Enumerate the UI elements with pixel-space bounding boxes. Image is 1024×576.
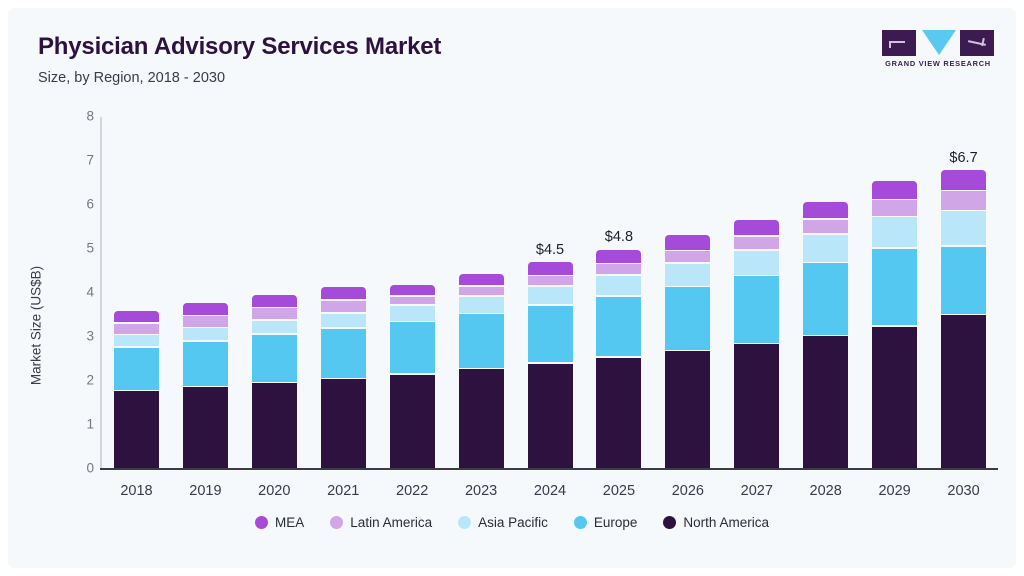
- bar-group-2026[interactable]: [665, 103, 710, 468]
- bar-group-2025[interactable]: $4.8: [596, 103, 641, 468]
- chart-legend: MEALatin AmericaAsia PacificEuropeNorth …: [8, 515, 1016, 530]
- bar-stack: [941, 170, 986, 468]
- bar-segment-mea[interactable]: [321, 287, 366, 299]
- bar-segment-north-america[interactable]: [252, 383, 297, 468]
- legend-item-north-america[interactable]: North America: [663, 515, 769, 530]
- bar-group-2022[interactable]: [390, 103, 435, 468]
- x-axis-tick-2026: 2026: [653, 483, 722, 499]
- bar-segment-europe[interactable]: [528, 306, 573, 362]
- x-axis-line: [100, 468, 998, 470]
- legend-label: Asia Pacific: [478, 515, 548, 530]
- x-axis-tick-2019: 2019: [171, 483, 240, 499]
- bar-segment-mea[interactable]: [528, 262, 573, 274]
- bar-segment-north-america[interactable]: [872, 327, 917, 468]
- legend-label: Europe: [594, 515, 638, 530]
- bar-segment-latin-america[interactable]: [665, 251, 710, 262]
- y-axis-tick-1: 1: [58, 417, 94, 432]
- bar-segment-europe[interactable]: [183, 342, 228, 386]
- bar-stack: [459, 274, 504, 468]
- bar-segment-asia-pacific[interactable]: [941, 211, 986, 245]
- bar-segment-mea[interactable]: [941, 170, 986, 190]
- logo-square-right-icon: [960, 30, 994, 56]
- x-axis-tick-2024: 2024: [516, 483, 585, 499]
- bar-segment-mea[interactable]: [665, 235, 710, 249]
- bar-segment-latin-america[interactable]: [941, 191, 986, 209]
- bar-segment-latin-america[interactable]: [321, 301, 366, 312]
- bar-stack: [665, 235, 710, 468]
- bar-segment-latin-america[interactable]: [803, 220, 848, 234]
- logo-mark: [882, 30, 994, 56]
- bar-segment-mea[interactable]: [803, 202, 848, 219]
- bar-segment-north-america[interactable]: [528, 364, 573, 468]
- bar-stack: [321, 287, 366, 468]
- legend-swatch-icon: [330, 516, 343, 529]
- legend-label: MEA: [275, 515, 304, 530]
- bar-stack: [528, 262, 573, 468]
- x-axis-tick-2020: 2020: [240, 483, 309, 499]
- legend-swatch-icon: [255, 516, 268, 529]
- bar-group-2020[interactable]: [252, 103, 297, 468]
- chart-card: Physician Advisory Services Market Size,…: [8, 8, 1016, 568]
- bar-segment-europe[interactable]: [252, 335, 297, 382]
- bar-segment-latin-america[interactable]: [183, 316, 228, 327]
- chart-header: Physician Advisory Services Market Size,…: [8, 8, 1016, 103]
- bar-group-2029[interactable]: [872, 103, 917, 468]
- bar-segment-north-america[interactable]: [459, 369, 504, 468]
- bar-segment-asia-pacific[interactable]: [252, 321, 297, 334]
- legend-label: North America: [683, 515, 769, 530]
- bar-segment-north-america[interactable]: [803, 336, 848, 468]
- bar-segment-latin-america[interactable]: [528, 276, 573, 285]
- bar-stack: [734, 220, 779, 468]
- bar-value-label-2025: $4.8: [605, 229, 633, 245]
- y-axis-ticks: 012345678: [58, 103, 94, 503]
- bar-segment-europe[interactable]: [390, 322, 435, 373]
- bar-segment-asia-pacific[interactable]: [872, 217, 917, 247]
- logo-square-left-icon: [882, 30, 916, 56]
- bar-value-label-2024: $4.5: [536, 242, 564, 258]
- x-axis-tick-2029: 2029: [860, 483, 929, 499]
- bar-segment-north-america[interactable]: [734, 344, 779, 468]
- bar-segment-north-america[interactable]: [321, 379, 366, 468]
- bar-segment-latin-america[interactable]: [390, 297, 435, 304]
- bar-segment-latin-america[interactable]: [114, 324, 159, 334]
- bar-segment-europe[interactable]: [734, 276, 779, 343]
- bar-segment-europe[interactable]: [321, 329, 366, 378]
- bar-stack: [183, 303, 228, 468]
- bar-segment-europe[interactable]: [596, 297, 641, 356]
- bar-segment-asia-pacific[interactable]: [390, 306, 435, 321]
- bar-stack: [872, 181, 917, 468]
- bar-stack: [803, 202, 848, 468]
- bar-segment-europe[interactable]: [459, 314, 504, 368]
- bar-segment-north-america[interactable]: [183, 387, 228, 468]
- x-axis-tick-2018: 2018: [102, 483, 171, 499]
- bar-segment-europe[interactable]: [114, 348, 159, 390]
- bar-segment-north-america[interactable]: [390, 375, 435, 468]
- bar-series-container: $4.5$4.8$6.7: [102, 103, 998, 468]
- bar-group-2024[interactable]: $4.5: [528, 103, 573, 468]
- bar-group-2028[interactable]: [803, 103, 848, 468]
- y-axis-label: Market Size (US$B): [29, 176, 44, 476]
- y-axis-tick-3: 3: [58, 329, 94, 344]
- bar-segment-asia-pacific[interactable]: [321, 314, 366, 328]
- bar-segment-asia-pacific[interactable]: [459, 297, 504, 313]
- y-axis-tick-5: 5: [58, 241, 94, 256]
- bar-segment-latin-america[interactable]: [252, 308, 297, 319]
- bar-segment-europe[interactable]: [803, 263, 848, 334]
- logo-glyph-stem: [889, 41, 891, 48]
- bar-segment-mea[interactable]: [596, 250, 641, 263]
- bar-segment-mea[interactable]: [183, 303, 228, 314]
- bar-stack: [596, 250, 641, 468]
- bar-segment-mea[interactable]: [459, 274, 504, 285]
- bar-group-2023[interactable]: [459, 103, 504, 468]
- bar-stack: [114, 311, 159, 468]
- x-axis-ticks: 2018201920202021202220232024202520262027…: [102, 475, 998, 505]
- legend-label: Latin America: [350, 515, 432, 530]
- y-axis-tick-8: 8: [58, 109, 94, 124]
- x-axis-tick-2022: 2022: [378, 483, 447, 499]
- bar-segment-europe[interactable]: [872, 249, 917, 326]
- grand-view-research-logo: GRAND VIEW RESEARCH: [882, 30, 994, 72]
- bar-segment-europe[interactable]: [941, 247, 986, 314]
- bar-segment-latin-america[interactable]: [596, 264, 641, 274]
- logo-text: GRAND VIEW RESEARCH: [882, 59, 994, 68]
- bar-segment-mea[interactable]: [872, 181, 917, 199]
- bar-group-2021[interactable]: [321, 103, 366, 468]
- legend-swatch-icon: [458, 516, 471, 529]
- x-axis-tick-2021: 2021: [309, 483, 378, 499]
- bar-segment-mea[interactable]: [252, 295, 297, 307]
- bar-segment-latin-america[interactable]: [734, 237, 779, 249]
- legend-swatch-icon: [574, 516, 587, 529]
- bar-group-2030[interactable]: $6.7: [941, 103, 986, 468]
- y-axis-tick-6: 6: [58, 197, 94, 212]
- page-title: Physician Advisory Services Market: [38, 33, 441, 61]
- chart-subtitle: Size, by Region, 2018 - 2030: [38, 70, 225, 86]
- y-axis-tick-7: 7: [58, 153, 94, 168]
- y-axis-tick-2: 2: [58, 373, 94, 388]
- bar-stack: [252, 295, 297, 468]
- bar-segment-north-america[interactable]: [941, 315, 986, 468]
- bar-segment-asia-pacific[interactable]: [734, 251, 779, 275]
- x-axis-tick-2027: 2027: [722, 483, 791, 499]
- x-axis-tick-2030: 2030: [929, 483, 998, 499]
- bar-segment-latin-america[interactable]: [459, 287, 504, 295]
- bar-group-2018[interactable]: [114, 103, 159, 468]
- bar-segment-north-america[interactable]: [596, 358, 641, 468]
- bar-stack: [390, 285, 435, 468]
- bar-segment-mea[interactable]: [734, 220, 779, 235]
- bar-segment-asia-pacific[interactable]: [803, 235, 848, 262]
- bar-segment-latin-america[interactable]: [872, 200, 917, 215]
- bar-segment-north-america[interactable]: [114, 391, 159, 468]
- y-axis-tick-4: 4: [58, 285, 94, 300]
- x-axis-tick-2028: 2028: [791, 483, 860, 499]
- logo-glyph-bar: [889, 41, 905, 43]
- legend-item-asia-pacific[interactable]: Asia Pacific: [458, 515, 548, 530]
- logo-triangle-icon: [922, 30, 956, 55]
- bar-segment-asia-pacific[interactable]: [183, 328, 228, 340]
- bar-value-label-2030: $6.7: [949, 150, 977, 166]
- bar-segment-europe[interactable]: [665, 287, 710, 350]
- bar-segment-mea[interactable]: [390, 285, 435, 296]
- legend-swatch-icon: [663, 516, 676, 529]
- bar-group-2027[interactable]: [734, 103, 779, 468]
- bar-segment-asia-pacific[interactable]: [596, 276, 641, 295]
- bar-segment-asia-pacific[interactable]: [528, 287, 573, 305]
- bar-segment-asia-pacific[interactable]: [114, 335, 159, 346]
- bar-segment-mea[interactable]: [114, 311, 159, 322]
- legend-item-europe[interactable]: Europe: [574, 515, 638, 530]
- x-axis-tick-2025: 2025: [584, 483, 653, 499]
- bar-segment-asia-pacific[interactable]: [665, 264, 710, 286]
- legend-item-latin-america[interactable]: Latin America: [330, 515, 432, 530]
- y-axis-tick-0: 0: [58, 461, 94, 476]
- legend-item-mea[interactable]: MEA: [255, 515, 304, 530]
- bar-segment-north-america[interactable]: [665, 351, 710, 468]
- bar-group-2019[interactable]: [183, 103, 228, 468]
- chart-plot-area: Market Size (US$B) 012345678 $4.5$4.8$6.…: [8, 103, 1016, 568]
- x-axis-tick-2023: 2023: [447, 483, 516, 499]
